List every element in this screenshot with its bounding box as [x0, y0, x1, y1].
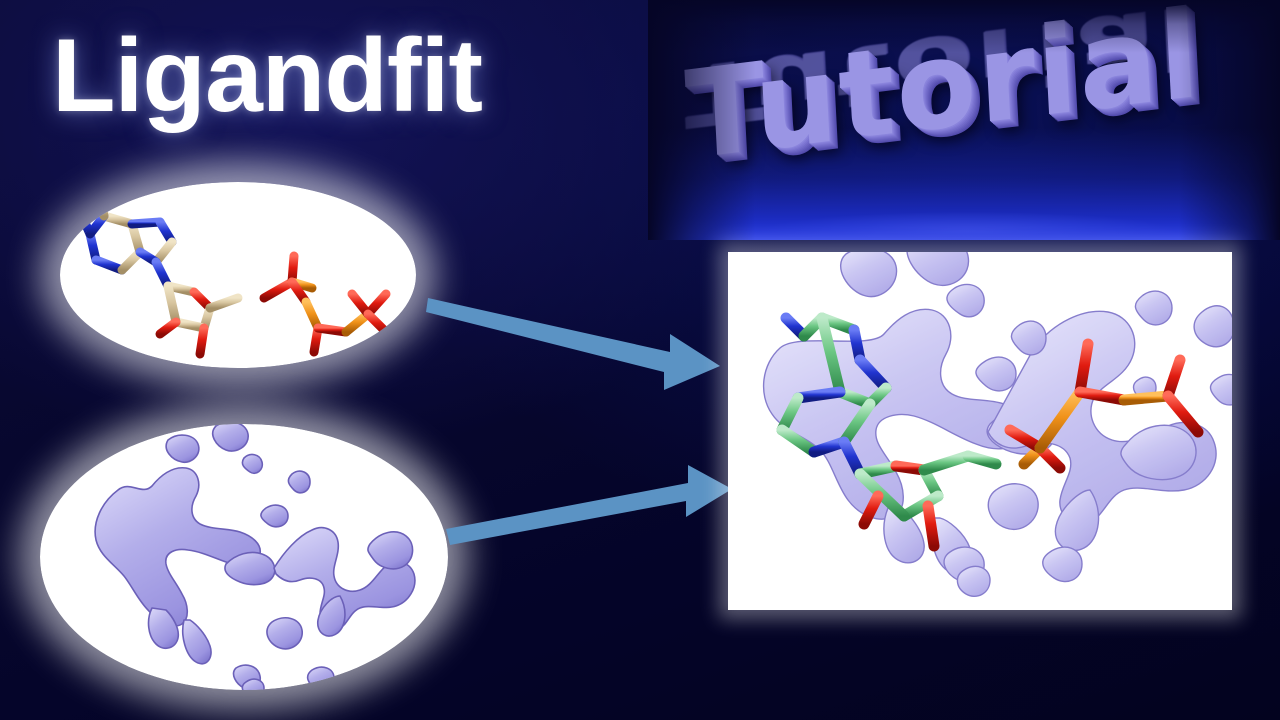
arrow-icon — [424, 282, 724, 392]
floor-glow — [708, 208, 1228, 240]
electron-density-oval — [40, 424, 448, 690]
result-panel-caption — [0, 0, 1, 1]
arrow-icon — [444, 455, 734, 560]
molecule-oval-caption — [0, 0, 1, 1]
tutorial-3d-banner: Tutorial Tutorial — [648, 0, 1280, 240]
atp-stick-model — [60, 182, 416, 368]
ligand-model-oval — [60, 182, 416, 368]
arrow-model-to-result — [424, 282, 724, 392]
slide-canvas: Ligandfit Tutorial Tutorial — [0, 0, 1280, 720]
fitted-ligand-in-density — [728, 252, 1232, 610]
page-title: Ligandfit — [52, 24, 482, 128]
fitted-ligand-panel — [728, 252, 1232, 610]
arrow-density-to-result — [444, 455, 734, 560]
density-isosurface — [40, 424, 448, 690]
density-oval-caption — [0, 0, 1, 1]
tutorial-text: Tutorial — [683, 0, 1205, 187]
